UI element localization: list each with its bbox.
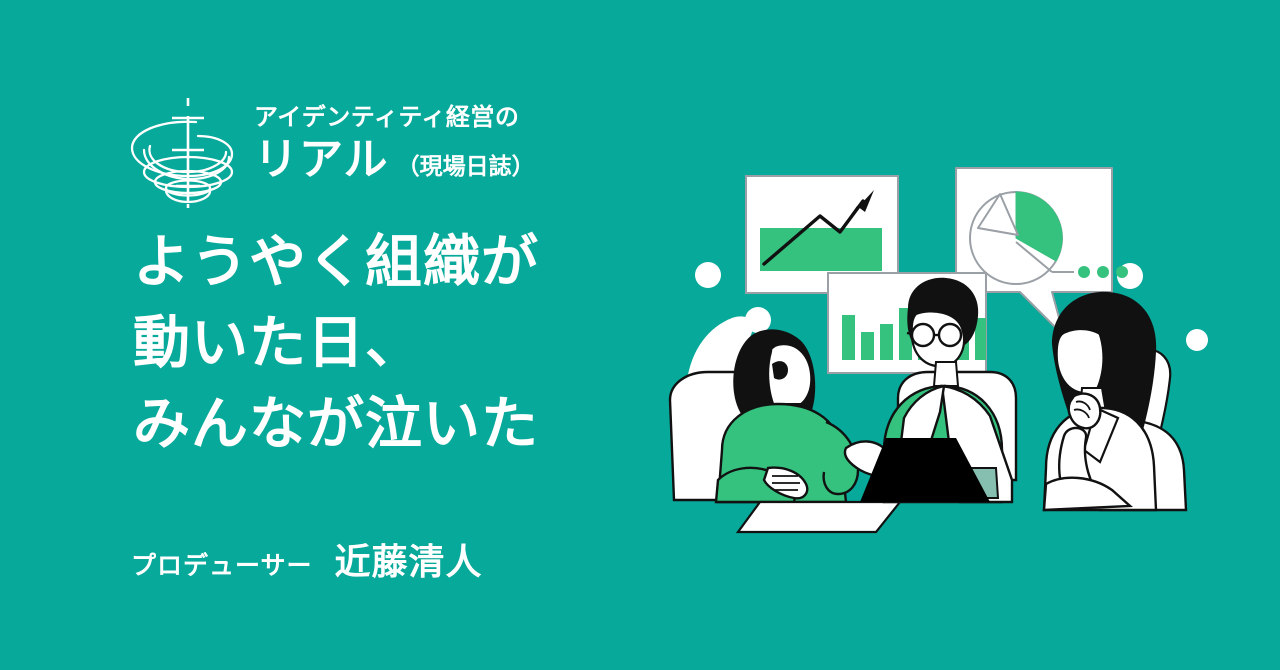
spiral-vortex-logo-icon bbox=[120, 94, 240, 212]
brand-subtitle: （現場日誌） bbox=[397, 155, 535, 178]
face-center bbox=[912, 311, 964, 366]
slide-canvas: アイデンティティ経営の リアル （現場日誌） ようやく組織が 動いた日、 みんな… bbox=[0, 0, 1280, 670]
producer-name: 近藤清人 bbox=[335, 533, 483, 585]
paper-sheet bbox=[738, 502, 900, 532]
headline-line-2: 動いた日、 bbox=[133, 303, 653, 384]
brand-text-block: アイデンティティ経営の リアル （現場日誌） bbox=[254, 92, 535, 182]
person-listener-right bbox=[1044, 292, 1186, 510]
brand-lockup: アイデンティティ経営の リアル （現場日誌） bbox=[120, 92, 535, 212]
headline-line-3: みんなが泣いた bbox=[133, 384, 653, 465]
page-title: ようやく組織が 動いた日、 みんなが泣いた bbox=[133, 222, 653, 465]
headline-line-1: ようやく組織が bbox=[133, 222, 653, 303]
brand-logotype: リアル bbox=[254, 138, 389, 182]
producer-role-label: プロデューサー bbox=[131, 546, 313, 582]
pie-ellipsis-dots bbox=[1078, 266, 1128, 278]
brand-tagline: アイデンティティ経営の bbox=[254, 106, 535, 130]
producer-credit: プロデューサー 近藤清人 bbox=[131, 533, 483, 585]
brand-logotype-row: リアル （現場日誌） bbox=[254, 138, 535, 182]
business-team-illustration bbox=[660, 150, 1240, 550]
line-chart-green-block bbox=[760, 228, 882, 271]
